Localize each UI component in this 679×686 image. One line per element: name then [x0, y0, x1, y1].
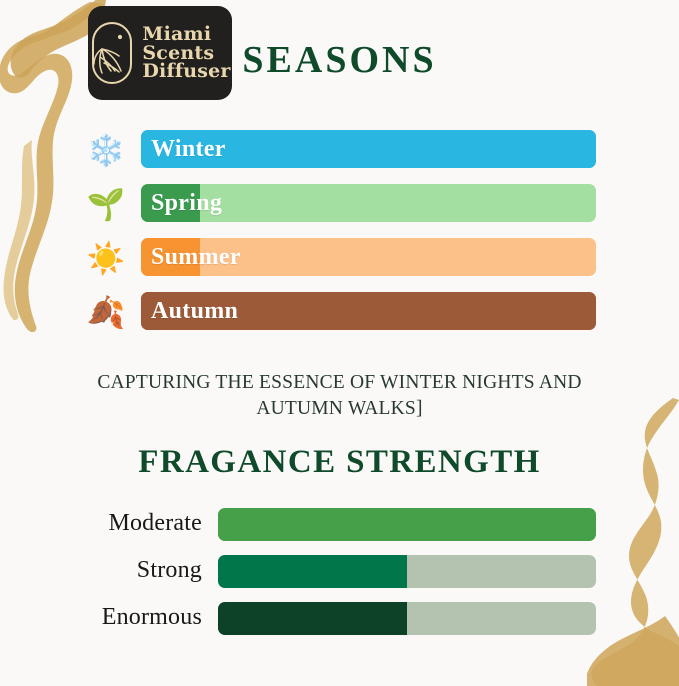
- strength-label-enormous: Enormous: [70, 594, 202, 641]
- caption-text: CAPTURING THE ESSENCE OF WINTER NIGHTS A…: [70, 370, 609, 423]
- season-label-winter: Winter: [151, 130, 226, 168]
- strength-bar-enormous: [218, 602, 596, 635]
- infographic-canvas: Miami Scents Diffuser SEASONS ❄️ Winter …: [0, 0, 679, 679]
- seedling-icon: 🌱: [84, 182, 128, 226]
- strength-bar-moderate: [218, 508, 596, 541]
- season-row-autumn: 🍂 Autumn: [0, 286, 679, 340]
- brand-logo: Miami Scents Diffuser: [88, 6, 232, 100]
- strength-label-moderate: Moderate: [70, 500, 202, 547]
- season-bar-autumn: Autumn: [141, 292, 596, 330]
- strength-row-moderate: Moderate: [0, 500, 679, 547]
- season-row-winter: ❄️ Winter: [0, 124, 679, 178]
- fallen-leaves-icon: 🍂: [84, 290, 128, 334]
- snowflake-icon: ❄️: [84, 128, 128, 172]
- season-bar-spring: Spring: [141, 184, 596, 222]
- strength-bar-strong: [218, 555, 596, 588]
- season-row-spring: 🌱 Spring: [0, 178, 679, 232]
- strength-bar-fill-strong: [218, 555, 407, 588]
- strength-row-enormous: Enormous: [0, 594, 679, 641]
- fragrance-strength-chart: Moderate Strong Enormous: [0, 500, 679, 641]
- season-bar-summer: Summer: [141, 238, 596, 276]
- strength-label-strong: Strong: [70, 547, 202, 594]
- season-label-autumn: Autumn: [151, 292, 238, 330]
- brand-logo-wordmark: Miami Scents Diffuser: [142, 25, 230, 80]
- sun-icon: ☀️: [84, 236, 128, 280]
- strength-bar-fill-moderate: [218, 508, 596, 541]
- season-bar-winter: Winter: [141, 130, 596, 168]
- strength-row-strong: Strong: [0, 547, 679, 594]
- strength-bar-fill-enormous: [218, 602, 407, 635]
- bird-feather-emblem-icon: [89, 19, 135, 87]
- season-label-spring: Spring: [151, 184, 222, 222]
- season-row-summer: ☀️ Summer: [0, 232, 679, 286]
- season-label-summer: Summer: [151, 238, 241, 276]
- logo-line-3: Diffuser: [142, 62, 230, 80]
- seasons-chart: ❄️ Winter 🌱 Spring ☀️ Summer 🍂: [0, 124, 679, 340]
- fragrance-strength-title: FRAGANCE STRENGTH: [0, 444, 679, 481]
